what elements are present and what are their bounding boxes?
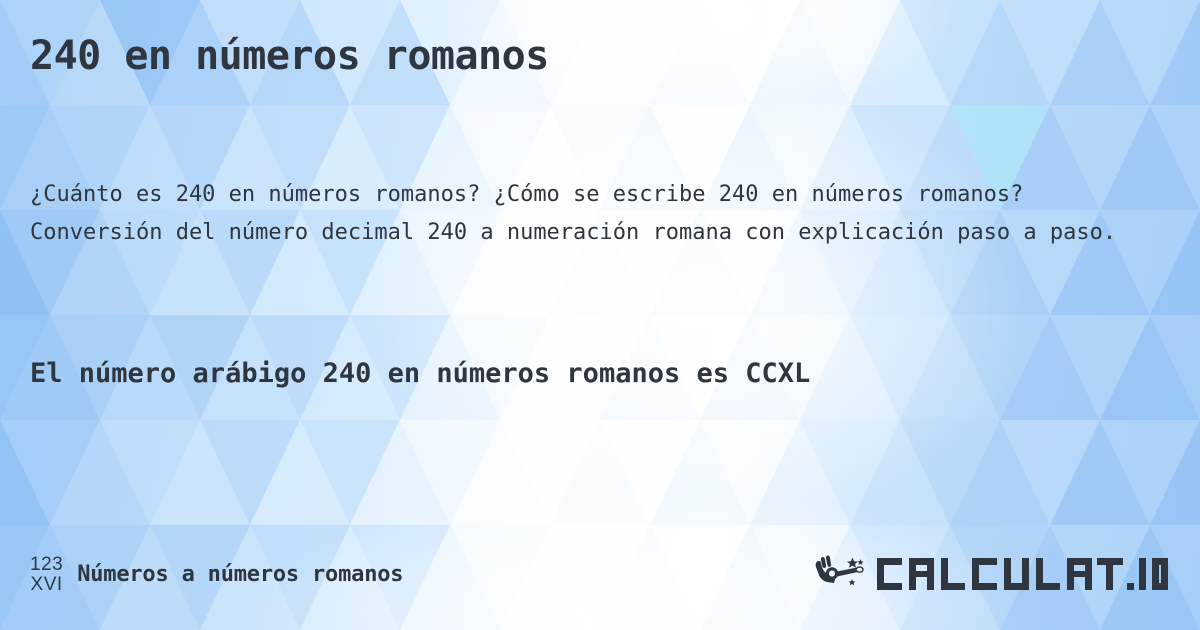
numbers-to-roman-fraction-logo: 123 XVI (30, 554, 63, 594)
brand-wordmark-calculatio (875, 553, 1170, 595)
fraction-numerator: 123 (30, 555, 63, 574)
page-content: 240 en números romanos ¿Cuánto es 240 en… (0, 0, 1200, 630)
page-title: 240 en números romanos (30, 33, 549, 79)
footer-site-label: Números a números romanos (77, 562, 403, 587)
intro-paragraph: ¿Cuánto es 240 en números romanos? ¿Cómo… (30, 176, 1150, 252)
fraction-denominator: XVI (31, 575, 63, 594)
answer-statement: El número arábigo 240 en números romanos… (30, 350, 1140, 397)
footer-brand-left[interactable]: 123 XVI Números a números romanos (30, 554, 403, 594)
footer-brand-right[interactable] (812, 552, 1170, 596)
magic-wand-hand-icon (812, 552, 868, 596)
footer: 123 XVI Números a números romanos (0, 546, 1200, 602)
